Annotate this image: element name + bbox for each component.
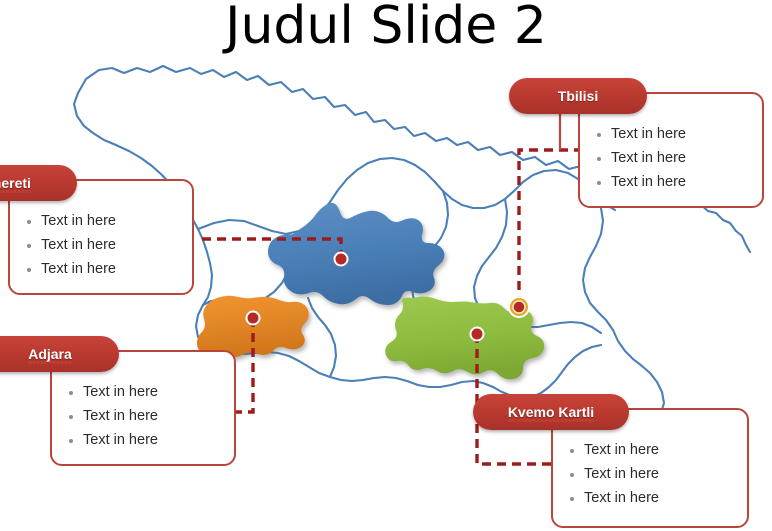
- list-item[interactable]: Text in here: [594, 170, 686, 194]
- marker-adjara[interactable]: [247, 312, 260, 325]
- callout-adjara-list: Text in here Text in here Text in here: [66, 380, 158, 452]
- list-item[interactable]: Text in here: [567, 486, 659, 510]
- marker-kvemo-kartli[interactable]: [471, 328, 484, 341]
- list-item[interactable]: Text in here: [567, 438, 659, 462]
- imereti-region-shape[interactable]: [268, 203, 444, 305]
- callout-kvemo-kartli-header[interactable]: Kvemo Kartli: [473, 394, 629, 430]
- slide-canvas: Judul Slide 2: [0, 0, 772, 531]
- marker-tbilisi[interactable]: [513, 301, 525, 313]
- callout-tbilisi-header[interactable]: Tbilisi: [509, 78, 647, 114]
- list-item[interactable]: Text in here: [66, 428, 158, 452]
- callout-kvemo-kartli-title: Kvemo Kartli: [508, 404, 594, 420]
- list-item[interactable]: Text in here: [66, 404, 158, 428]
- callout-imereti-title: Imereti: [0, 175, 31, 191]
- callout-adjara-header[interactable]: Adjara: [0, 336, 119, 372]
- list-item[interactable]: Text in here: [24, 233, 116, 257]
- list-item[interactable]: Text in here: [594, 122, 686, 146]
- list-item[interactable]: Text in here: [66, 380, 158, 404]
- marker-imereti[interactable]: [335, 253, 348, 266]
- list-item[interactable]: Text in here: [567, 462, 659, 486]
- callout-kvemo-kartli-list: Text in here Text in here Text in here: [567, 438, 659, 510]
- list-item[interactable]: Text in here: [24, 257, 116, 281]
- callout-imereti-list: Text in here Text in here Text in here: [24, 209, 116, 281]
- list-item[interactable]: Text in here: [594, 146, 686, 170]
- callout-tbilisi-title: Tbilisi: [558, 88, 598, 104]
- list-item[interactable]: Text in here: [24, 209, 116, 233]
- callout-imereti-header[interactable]: Imereti: [0, 165, 77, 201]
- callout-tbilisi-list: Text in here Text in here Text in here: [594, 122, 686, 194]
- callout-adjara-title: Adjara: [28, 346, 72, 362]
